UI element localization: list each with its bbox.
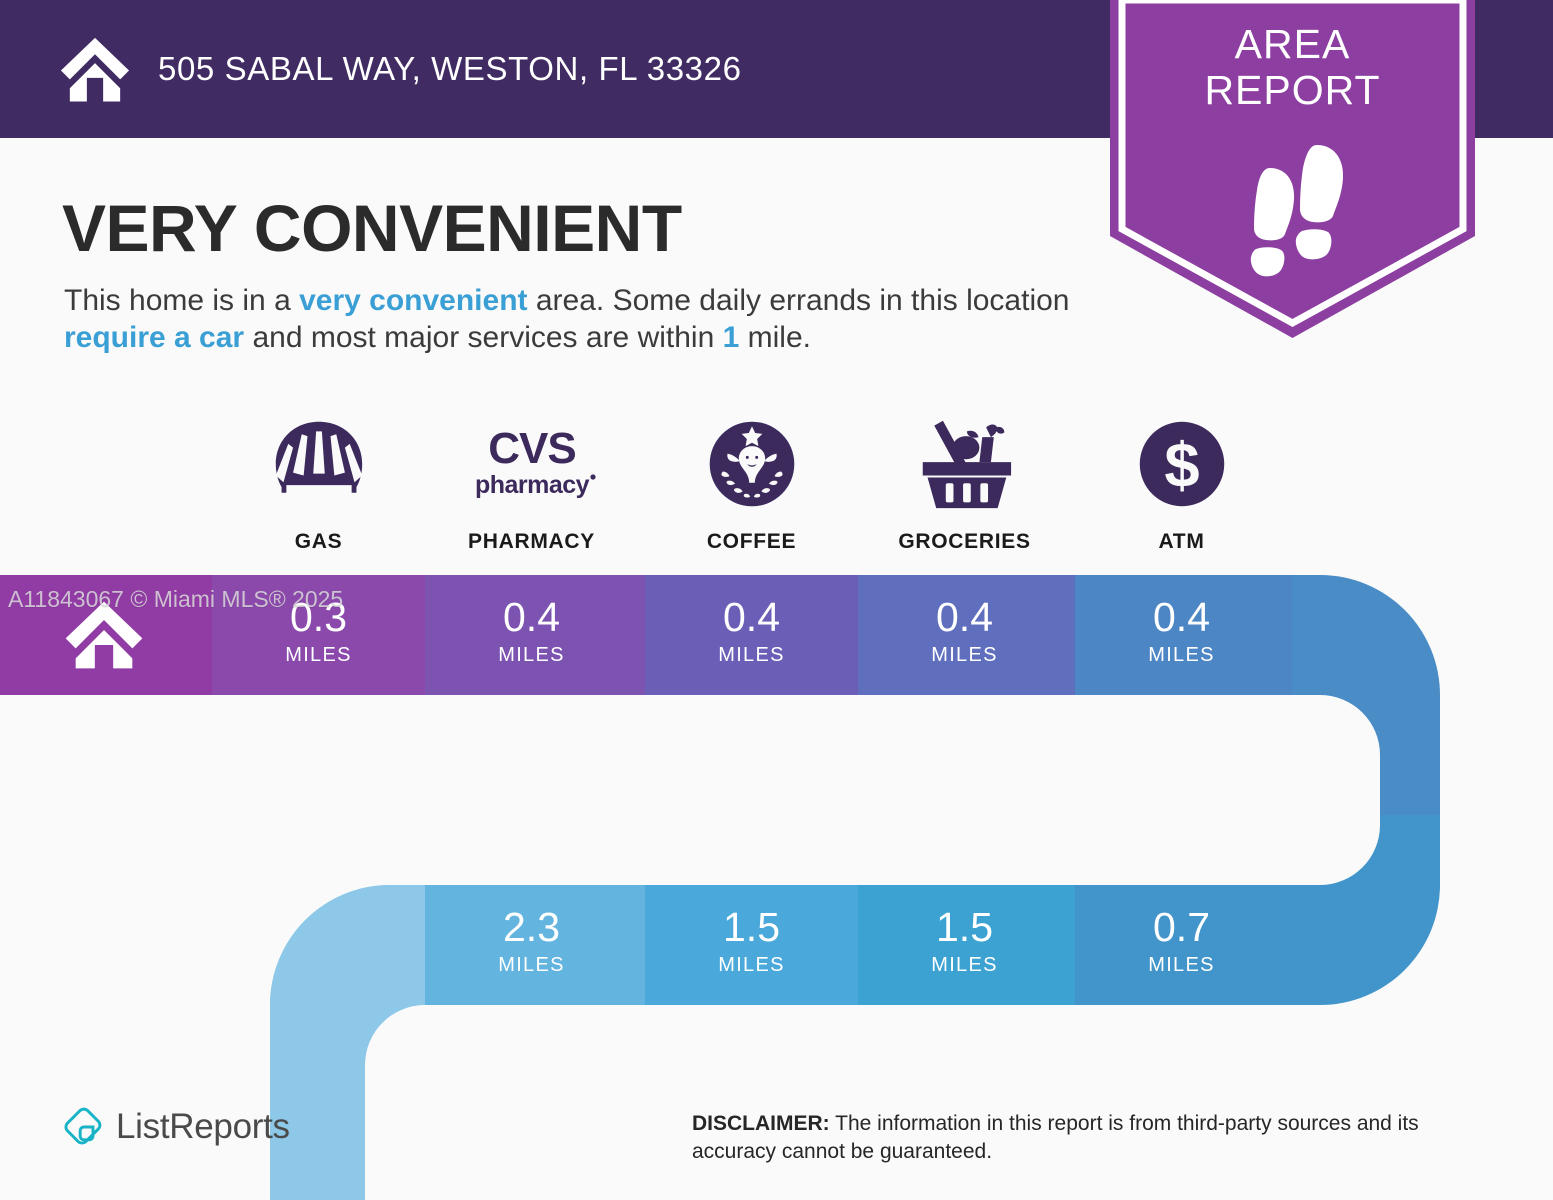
distance-unit: MILES — [1075, 644, 1288, 667]
amenity-atm: $ ATM — [1075, 412, 1288, 554]
distance-value: 0.4 — [425, 597, 638, 638]
summary-highlight-car: require a car — [64, 321, 244, 354]
distance-cleaners: 1.5 MILES — [645, 907, 858, 977]
amenity-gas: GAS — [212, 412, 425, 554]
cvs-pharmacy-icon: CVS pharmacy — [462, 412, 602, 516]
distance-groceries: 0.4 MILES — [858, 597, 1071, 667]
summary-seg-2: area. Some daily errands in this locatio… — [528, 284, 1070, 317]
distance-value: 0.7 — [1075, 907, 1288, 948]
listreports-logo-text: ListReports — [116, 1107, 290, 1147]
summary-seg-4: mile. — [739, 321, 811, 354]
distance-unit: MILES — [1075, 954, 1288, 977]
distance-unit: MILES — [425, 644, 638, 667]
distance-movie-theater: 2.3 MILES — [425, 907, 638, 977]
distance-unit: MILES — [858, 644, 1071, 667]
distance-value: 1.5 — [858, 907, 1071, 948]
disclaimer-label: DISCLAIMER: — [692, 1112, 830, 1135]
listreports-house-tag-icon — [60, 1105, 104, 1149]
starbucks-coffee-icon — [705, 412, 799, 516]
badge-title: AREA REPORT — [1110, 22, 1475, 114]
amenity-label: GROCERIES — [898, 530, 1030, 554]
mls-watermark: A11843067 © Miami MLS® 2025 — [8, 586, 343, 613]
distance-unit: MILES — [645, 644, 858, 667]
amenity-pharmacy: CVS pharmacy PHARMACY — [425, 412, 638, 554]
distance-atm: 0.4 MILES — [1075, 597, 1288, 667]
distance-value: 2.3 — [425, 907, 638, 948]
disclaimer: DISCLAIMER: The information in this repo… — [692, 1110, 1502, 1167]
distance-value: 0.4 — [1075, 597, 1288, 638]
badge-title-line1: AREA — [1110, 22, 1475, 68]
distance-value: 0.4 — [645, 597, 858, 638]
distance-value: 0.4 — [858, 597, 1071, 638]
property-address: 505 SABAL WAY, WESTON, FL 33326 — [158, 50, 742, 88]
distance-unit: MILES — [425, 954, 638, 977]
svg-text:CVS: CVS — [488, 424, 575, 473]
badge-title-line2: REPORT — [1110, 68, 1475, 114]
distance-gym: 0.7 MILES — [1075, 907, 1288, 977]
home-icon — [58, 32, 132, 106]
summary-seg-3: and most major services are within — [244, 321, 723, 354]
dollar-circle-icon: $ — [1134, 412, 1230, 516]
area-report-page: 505 SABAL WAY, WESTON, FL 33326 AREA REP… — [0, 0, 1553, 1200]
amenity-coffee: COFFEE — [645, 412, 858, 554]
distance-value: 1.5 — [645, 907, 858, 948]
distance-coffee: 0.4 MILES — [645, 597, 858, 667]
page-title: VERY CONVENIENT — [62, 190, 682, 266]
amenity-groceries: GROCERIES — [858, 412, 1071, 554]
amenity-label: ATM — [1158, 530, 1204, 554]
distance-unit: MILES — [645, 954, 858, 977]
svg-text:$: $ — [1164, 431, 1199, 501]
grocery-basket-icon — [913, 412, 1017, 516]
amenity-label: COFFEE — [707, 530, 796, 554]
svg-text:pharmacy: pharmacy — [474, 471, 589, 499]
distance-medical: 1.5 MILES — [858, 907, 1071, 977]
summary-highlight-convenience: very convenient — [299, 284, 527, 317]
amenity-label: PHARMACY — [468, 530, 595, 554]
summary-seg-1: This home is in a — [64, 284, 299, 317]
area-report-badge: AREA REPORT — [1110, 0, 1475, 340]
amenity-label: GAS — [295, 530, 343, 554]
listreports-logo[interactable]: ListReports — [60, 1105, 290, 1149]
summary-highlight-distance: 1 — [723, 321, 740, 354]
shell-gas-icon — [271, 412, 367, 516]
distance-pharmacy: 0.4 MILES — [425, 597, 638, 667]
distance-unit: MILES — [858, 954, 1071, 977]
distance-unit: MILES — [212, 644, 425, 667]
summary-text: This home is in a very convenient area. … — [64, 283, 1104, 356]
